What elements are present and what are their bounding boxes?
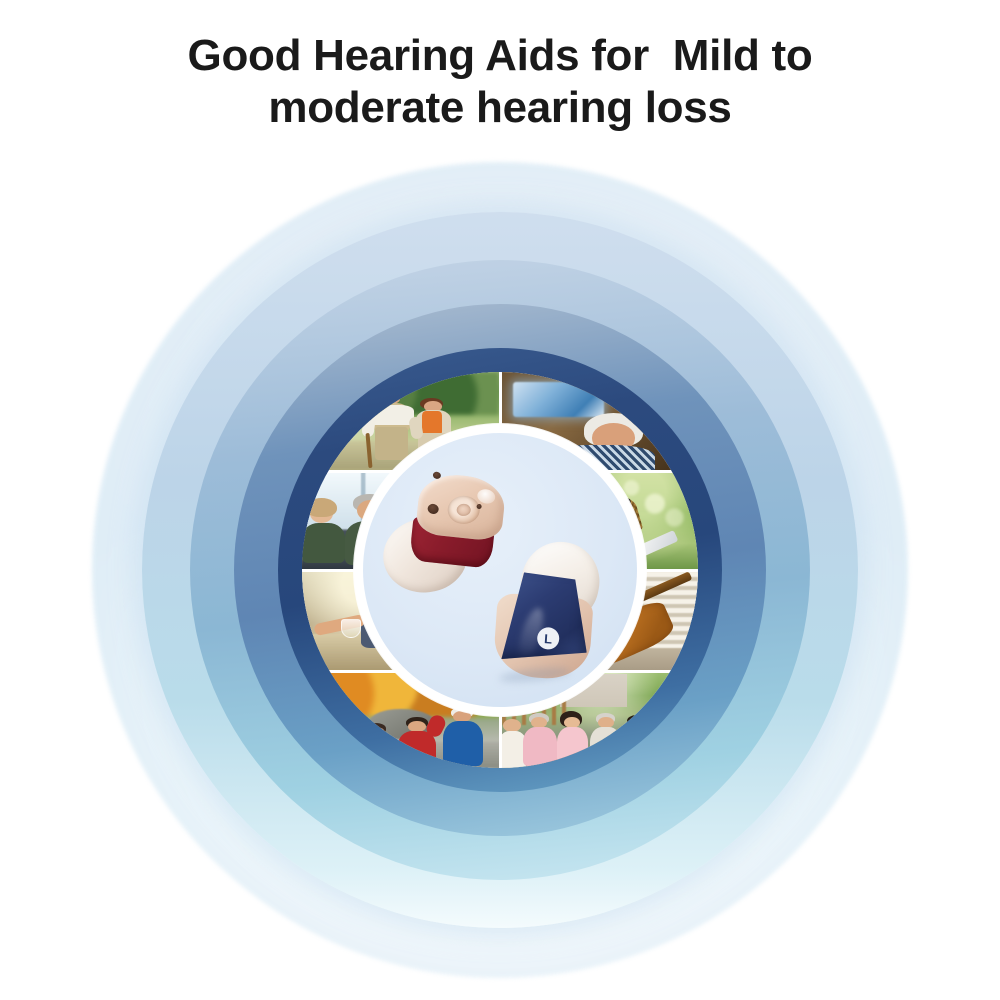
hearing-aid-lifestyle-collage: L (10, 150, 990, 990)
page-title-line-1: Good Hearing Aids for Mild to (0, 30, 1000, 82)
left-ear-hearing-aid: L (480, 543, 622, 692)
page-title: Good Hearing Aids for Mild to moderate h… (0, 30, 1000, 134)
push-button (447, 495, 480, 524)
product-center-disc: L (354, 424, 646, 716)
page-title-line-2: moderate hearing loss (0, 82, 1000, 134)
in-ear-hearing-aid-pair: L (363, 433, 637, 707)
